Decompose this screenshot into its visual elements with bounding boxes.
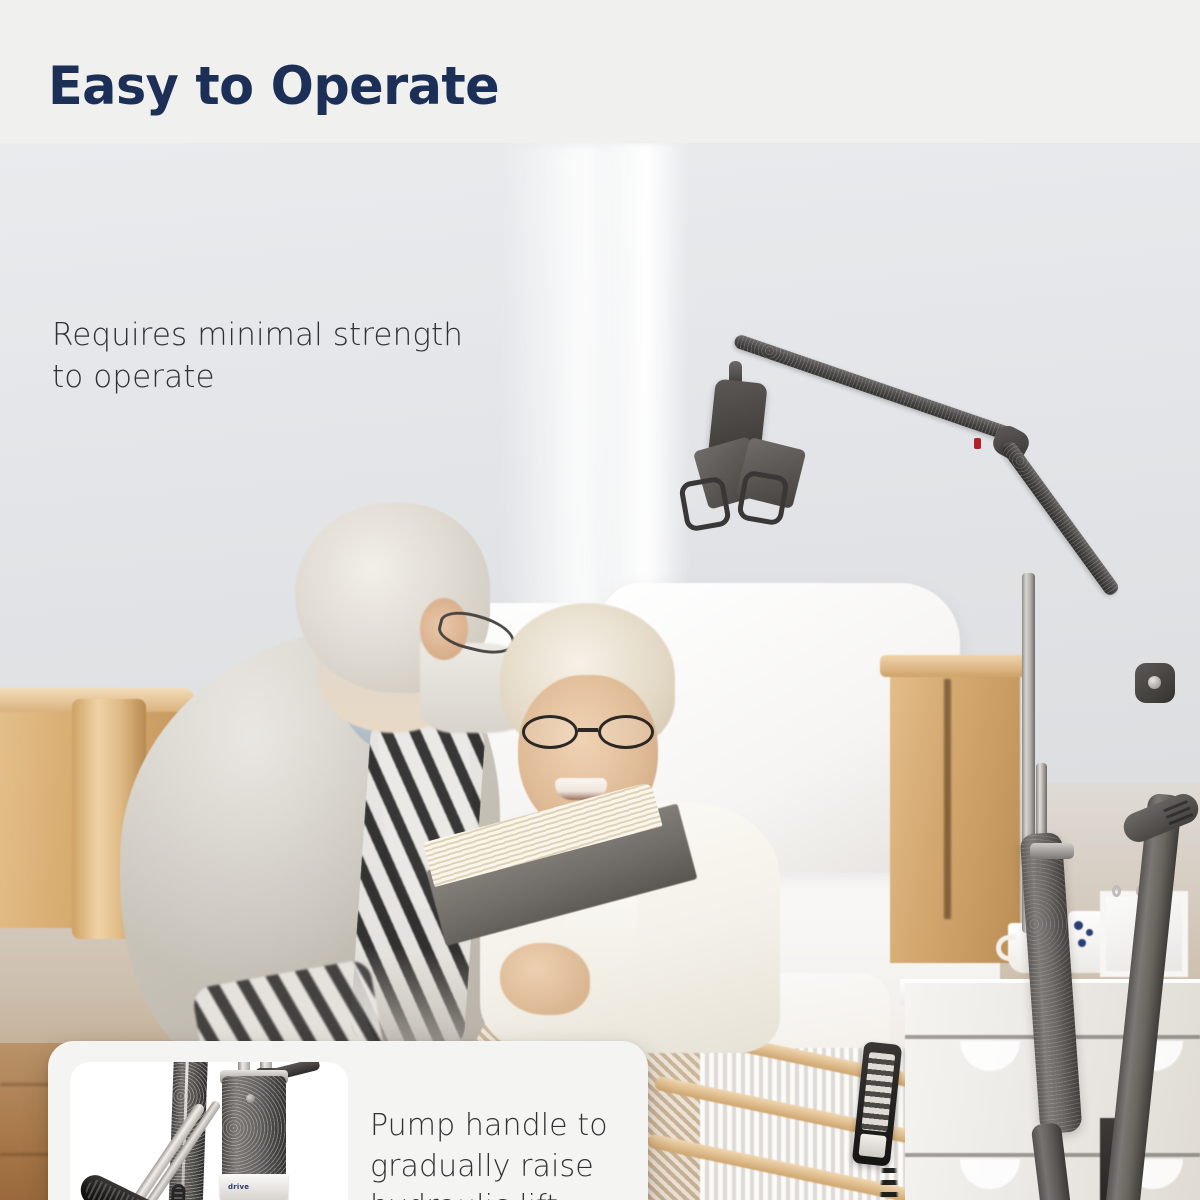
callout-card: drive Pump handle to gradually raise hyd…	[48, 1041, 648, 1200]
vase-pattern-dot	[1086, 929, 1093, 936]
coffee-mug-handle	[996, 935, 1016, 961]
subtitle: Requires minimal strength to operate	[52, 315, 572, 398]
vase-pattern-dot	[1078, 939, 1086, 947]
woman-eyeglasses	[522, 715, 654, 749]
callout-caption-line-2: gradually raise	[370, 1147, 608, 1188]
remote-coiled-cord	[876, 1161, 902, 1200]
page-title: Easy to Operate	[48, 56, 499, 117]
flower-vase	[1068, 911, 1104, 973]
sling-hook-right	[736, 469, 790, 526]
vase-pattern-dot	[1074, 921, 1083, 930]
header-band: Easy to Operate	[0, 0, 1200, 143]
inset-brand-text: drive	[228, 1183, 249, 1191]
callout-caption-line-3: hydraulic lift	[370, 1187, 608, 1200]
subtitle-line-1: Requires minimal strength	[52, 315, 572, 357]
inset-product-label: drive	[220, 1174, 288, 1200]
pump-handle-thumbnail: drive	[70, 1062, 348, 1200]
bed-headboard	[890, 663, 1020, 963]
woman-hand	[500, 943, 590, 1015]
inset-cylinder-screw	[246, 1094, 255, 1103]
subtitle-line-2: to operate	[52, 357, 572, 399]
callout-caption: Pump handle to gradually raise hydraulic…	[370, 1106, 608, 1200]
sling-hook-left	[678, 475, 732, 532]
boom-red-marker	[974, 438, 981, 449]
remote-buttons	[861, 1052, 895, 1132]
remote-screen	[859, 1133, 887, 1158]
lift-pivot-joint	[1135, 663, 1175, 703]
lifestyle-photo: Requires minimal strength to operate dri…	[0, 143, 1200, 1200]
callout-caption-line-1: Pump handle to	[370, 1106, 608, 1147]
frame-ring	[1112, 885, 1121, 897]
patient-woman	[470, 603, 800, 1043]
ram-clamp	[1030, 843, 1074, 859]
bed-headboard-cap	[880, 655, 1030, 677]
promo-image-root: Requires minimal strength to operate dri…	[0, 0, 1200, 1200]
bed-headboard-slot	[944, 679, 951, 919]
